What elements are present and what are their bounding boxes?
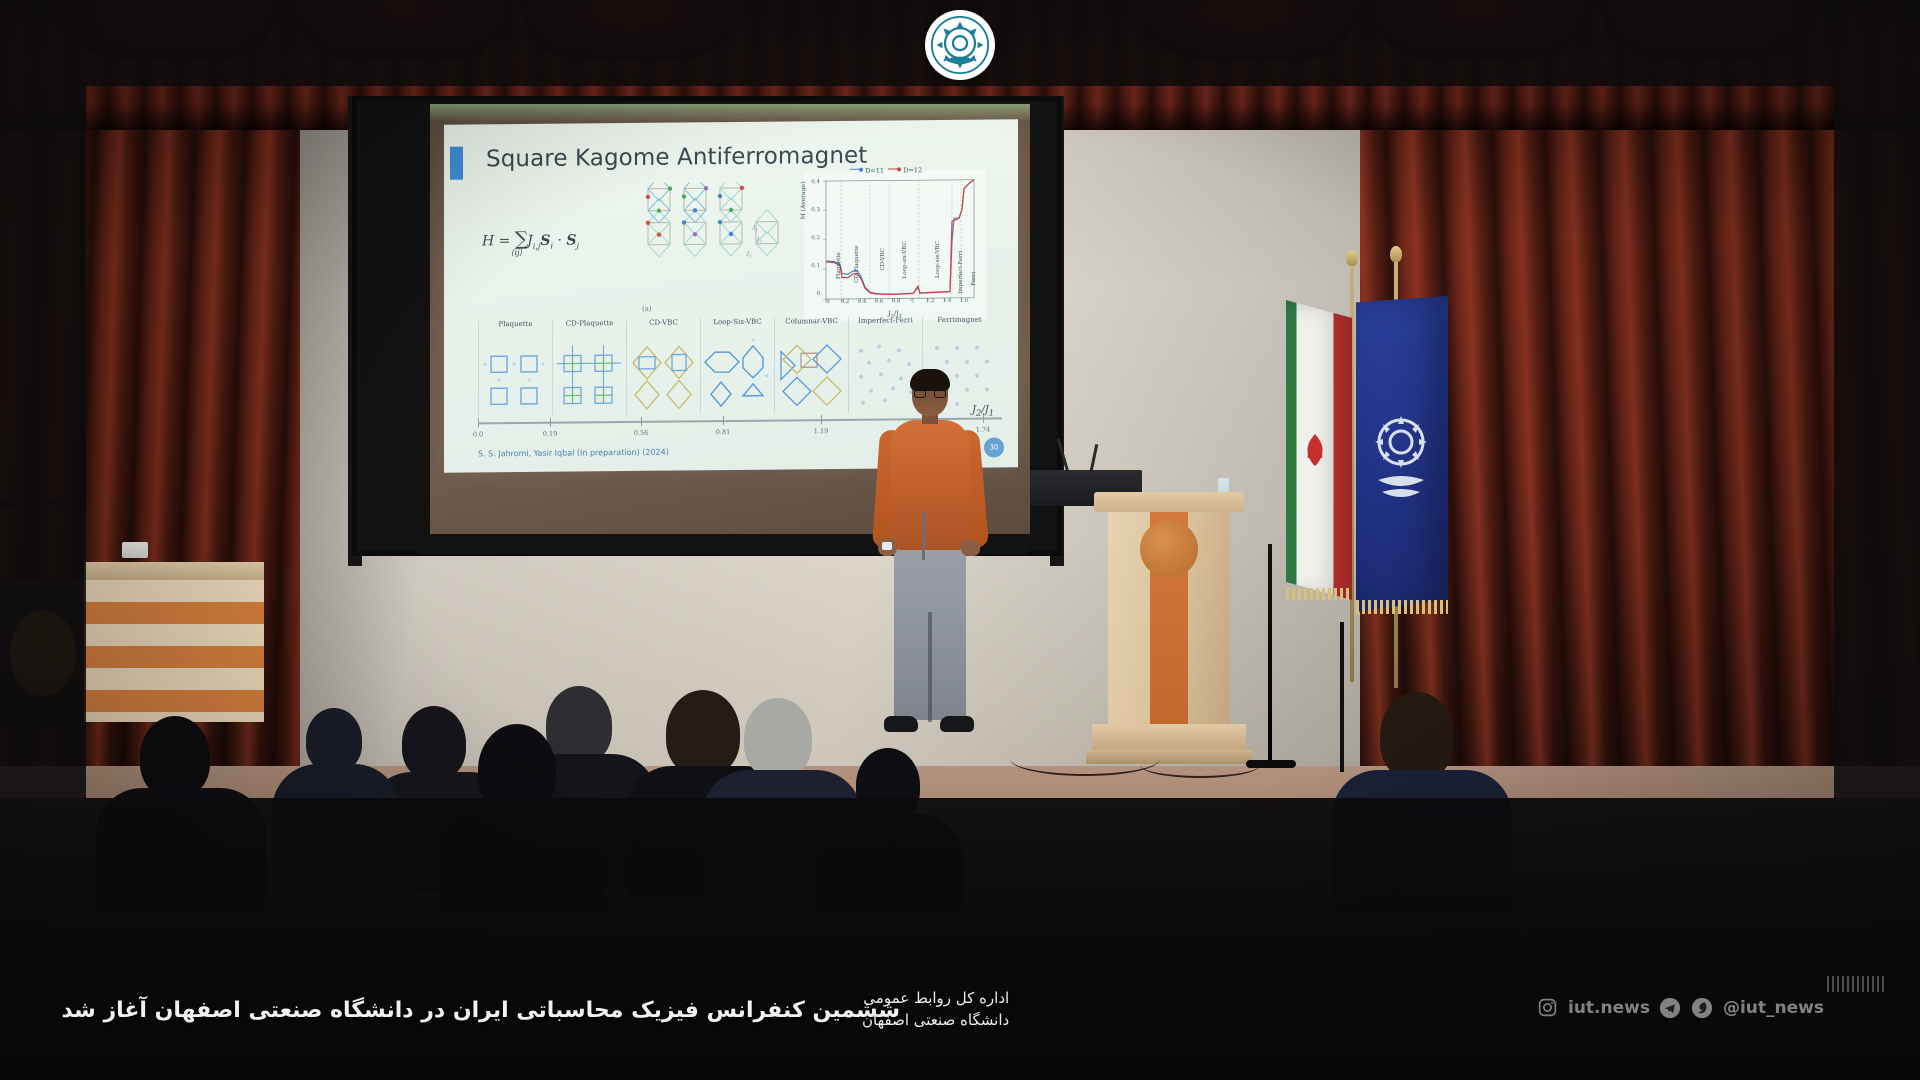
news-headline: ششمین کنفرانس فیزیک محاسباتی ایران در دا… [61, 998, 900, 1023]
bale-icon[interactable] [1691, 996, 1714, 1019]
frame-mask-left [0, 86, 86, 798]
decorative-bars [1827, 976, 1884, 992]
instagram-icon[interactable] [1536, 996, 1559, 1019]
telegram-icon[interactable] [1659, 996, 1682, 1019]
caption-band [0, 798, 1920, 1080]
telegram-handle[interactable]: @iut_news [1723, 998, 1824, 1018]
instagram-handle[interactable]: iut.news [1568, 998, 1650, 1018]
social-links[interactable]: iut.news @iut_news [1536, 996, 1824, 1019]
publisher-block: اداره کل روابط عمومی دانشگاه صنعتی اصفها… [862, 988, 1009, 1032]
publisher-line-1: اداره کل روابط عمومی [862, 988, 1009, 1010]
frame-mask-right [1834, 86, 1920, 798]
iut-logo-icon [925, 10, 995, 80]
publisher-line-2: دانشگاه صنعتی اصفهان [862, 1010, 1009, 1032]
screenshot-root: Square Kagome Antiferromagnet H = ∑⟨ij⟩ … [0, 0, 1920, 1080]
